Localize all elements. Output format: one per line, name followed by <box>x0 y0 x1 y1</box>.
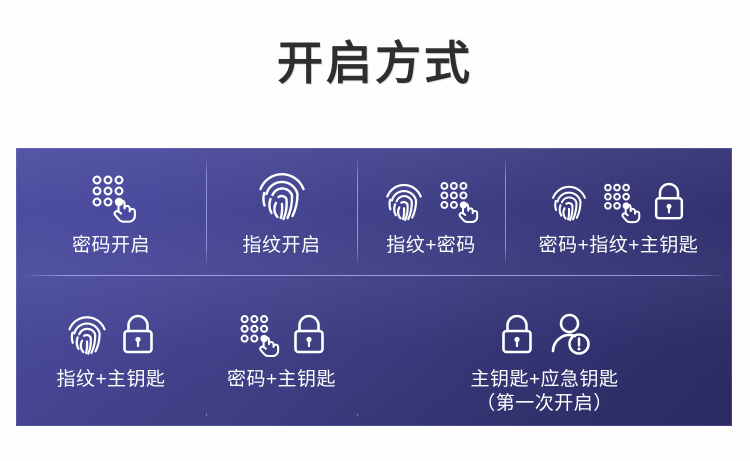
page-title: 开启方式 <box>277 40 473 86</box>
unlock-method-label: 密码+指纹+主钥匙 <box>539 234 699 258</box>
unlock-method-password[interactable]: 密码开启 <box>16 148 206 275</box>
cell-divider <box>357 158 358 265</box>
unlock-methods-row-top: 密码开启 <box>16 148 732 275</box>
page-title-wrap: 开启方式 <box>0 40 750 86</box>
keypad-hand-icon <box>234 312 280 358</box>
icon-group <box>85 166 137 224</box>
padlock-icon <box>650 182 688 224</box>
unlock-methods-row-bottom: 指纹+主钥匙 <box>16 276 732 426</box>
cell-divider <box>505 158 506 265</box>
icon-group <box>65 300 158 358</box>
keypad-hand-icon <box>85 172 137 224</box>
padlock-icon <box>118 314 158 358</box>
unlock-method-fingerprint-password[interactable]: 指纹+密码 <box>357 148 505 275</box>
icon-group <box>255 166 309 224</box>
unlock-method-label: 密码开启 <box>72 234 150 258</box>
row-divider <box>24 275 724 276</box>
cell-divider <box>357 414 358 416</box>
unlock-method-label: 指纹开启 <box>242 234 320 258</box>
unlock-methods-grid: 密码开启 <box>16 148 732 426</box>
icon-group <box>383 166 479 224</box>
padlock-icon <box>497 314 537 358</box>
unlock-method-fingerprint[interactable]: 指纹开启 <box>206 148 357 275</box>
cell-divider <box>206 414 207 416</box>
unlock-method-label: 指纹+密码 <box>386 234 476 258</box>
unlock-method-label: 密码+主钥匙 <box>227 368 336 392</box>
person-alert-icon <box>546 312 592 358</box>
icon-group <box>549 166 688 224</box>
fingerprint-icon <box>255 168 309 224</box>
unlock-method-password-fingerprint-masterkey[interactable]: 密码+指纹+主钥匙 <box>505 148 732 275</box>
unlock-method-password-masterkey[interactable]: 密码+主钥匙 <box>206 276 357 426</box>
unlock-method-label-line2: （第一次开启） <box>476 392 613 416</box>
unlock-method-fingerprint-masterkey[interactable]: 指纹+主钥匙 <box>16 276 206 426</box>
fingerprint-icon <box>383 180 425 224</box>
icon-group <box>497 300 592 358</box>
promo-graphic: 开启方式 <box>0 0 750 461</box>
keypad-hand-icon <box>598 181 641 224</box>
fingerprint-icon <box>549 182 589 224</box>
unlock-method-label: 指纹+主钥匙 <box>56 368 165 392</box>
unlock-method-masterkey-emergencykey[interactable]: 主钥匙+应急钥匙 （第一次开启） <box>357 276 732 426</box>
icon-group <box>234 300 329 358</box>
keypad-hand-icon <box>434 179 479 224</box>
padlock-icon <box>289 314 329 358</box>
fingerprint-icon <box>65 312 109 358</box>
cell-divider <box>206 158 207 265</box>
unlock-method-label: 主钥匙+应急钥匙 <box>470 368 618 392</box>
unlock-methods-panel: 密码开启 <box>16 148 732 426</box>
